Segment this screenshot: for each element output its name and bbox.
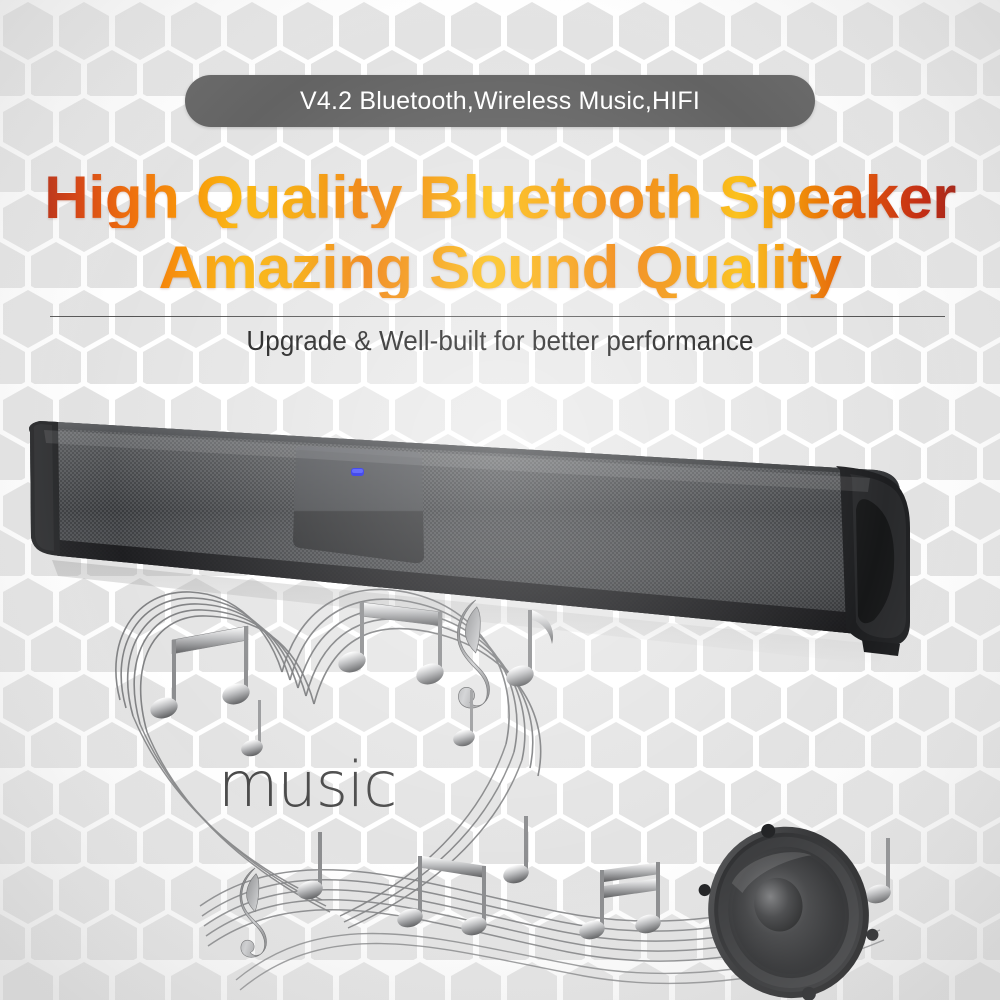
speaker-driver-illustration (0, 0, 1000, 1000)
driver-frame (687, 804, 890, 1000)
advertisement-canvas: V4.2 Bluetooth,Wireless Music,HIFI High … (0, 0, 1000, 1000)
